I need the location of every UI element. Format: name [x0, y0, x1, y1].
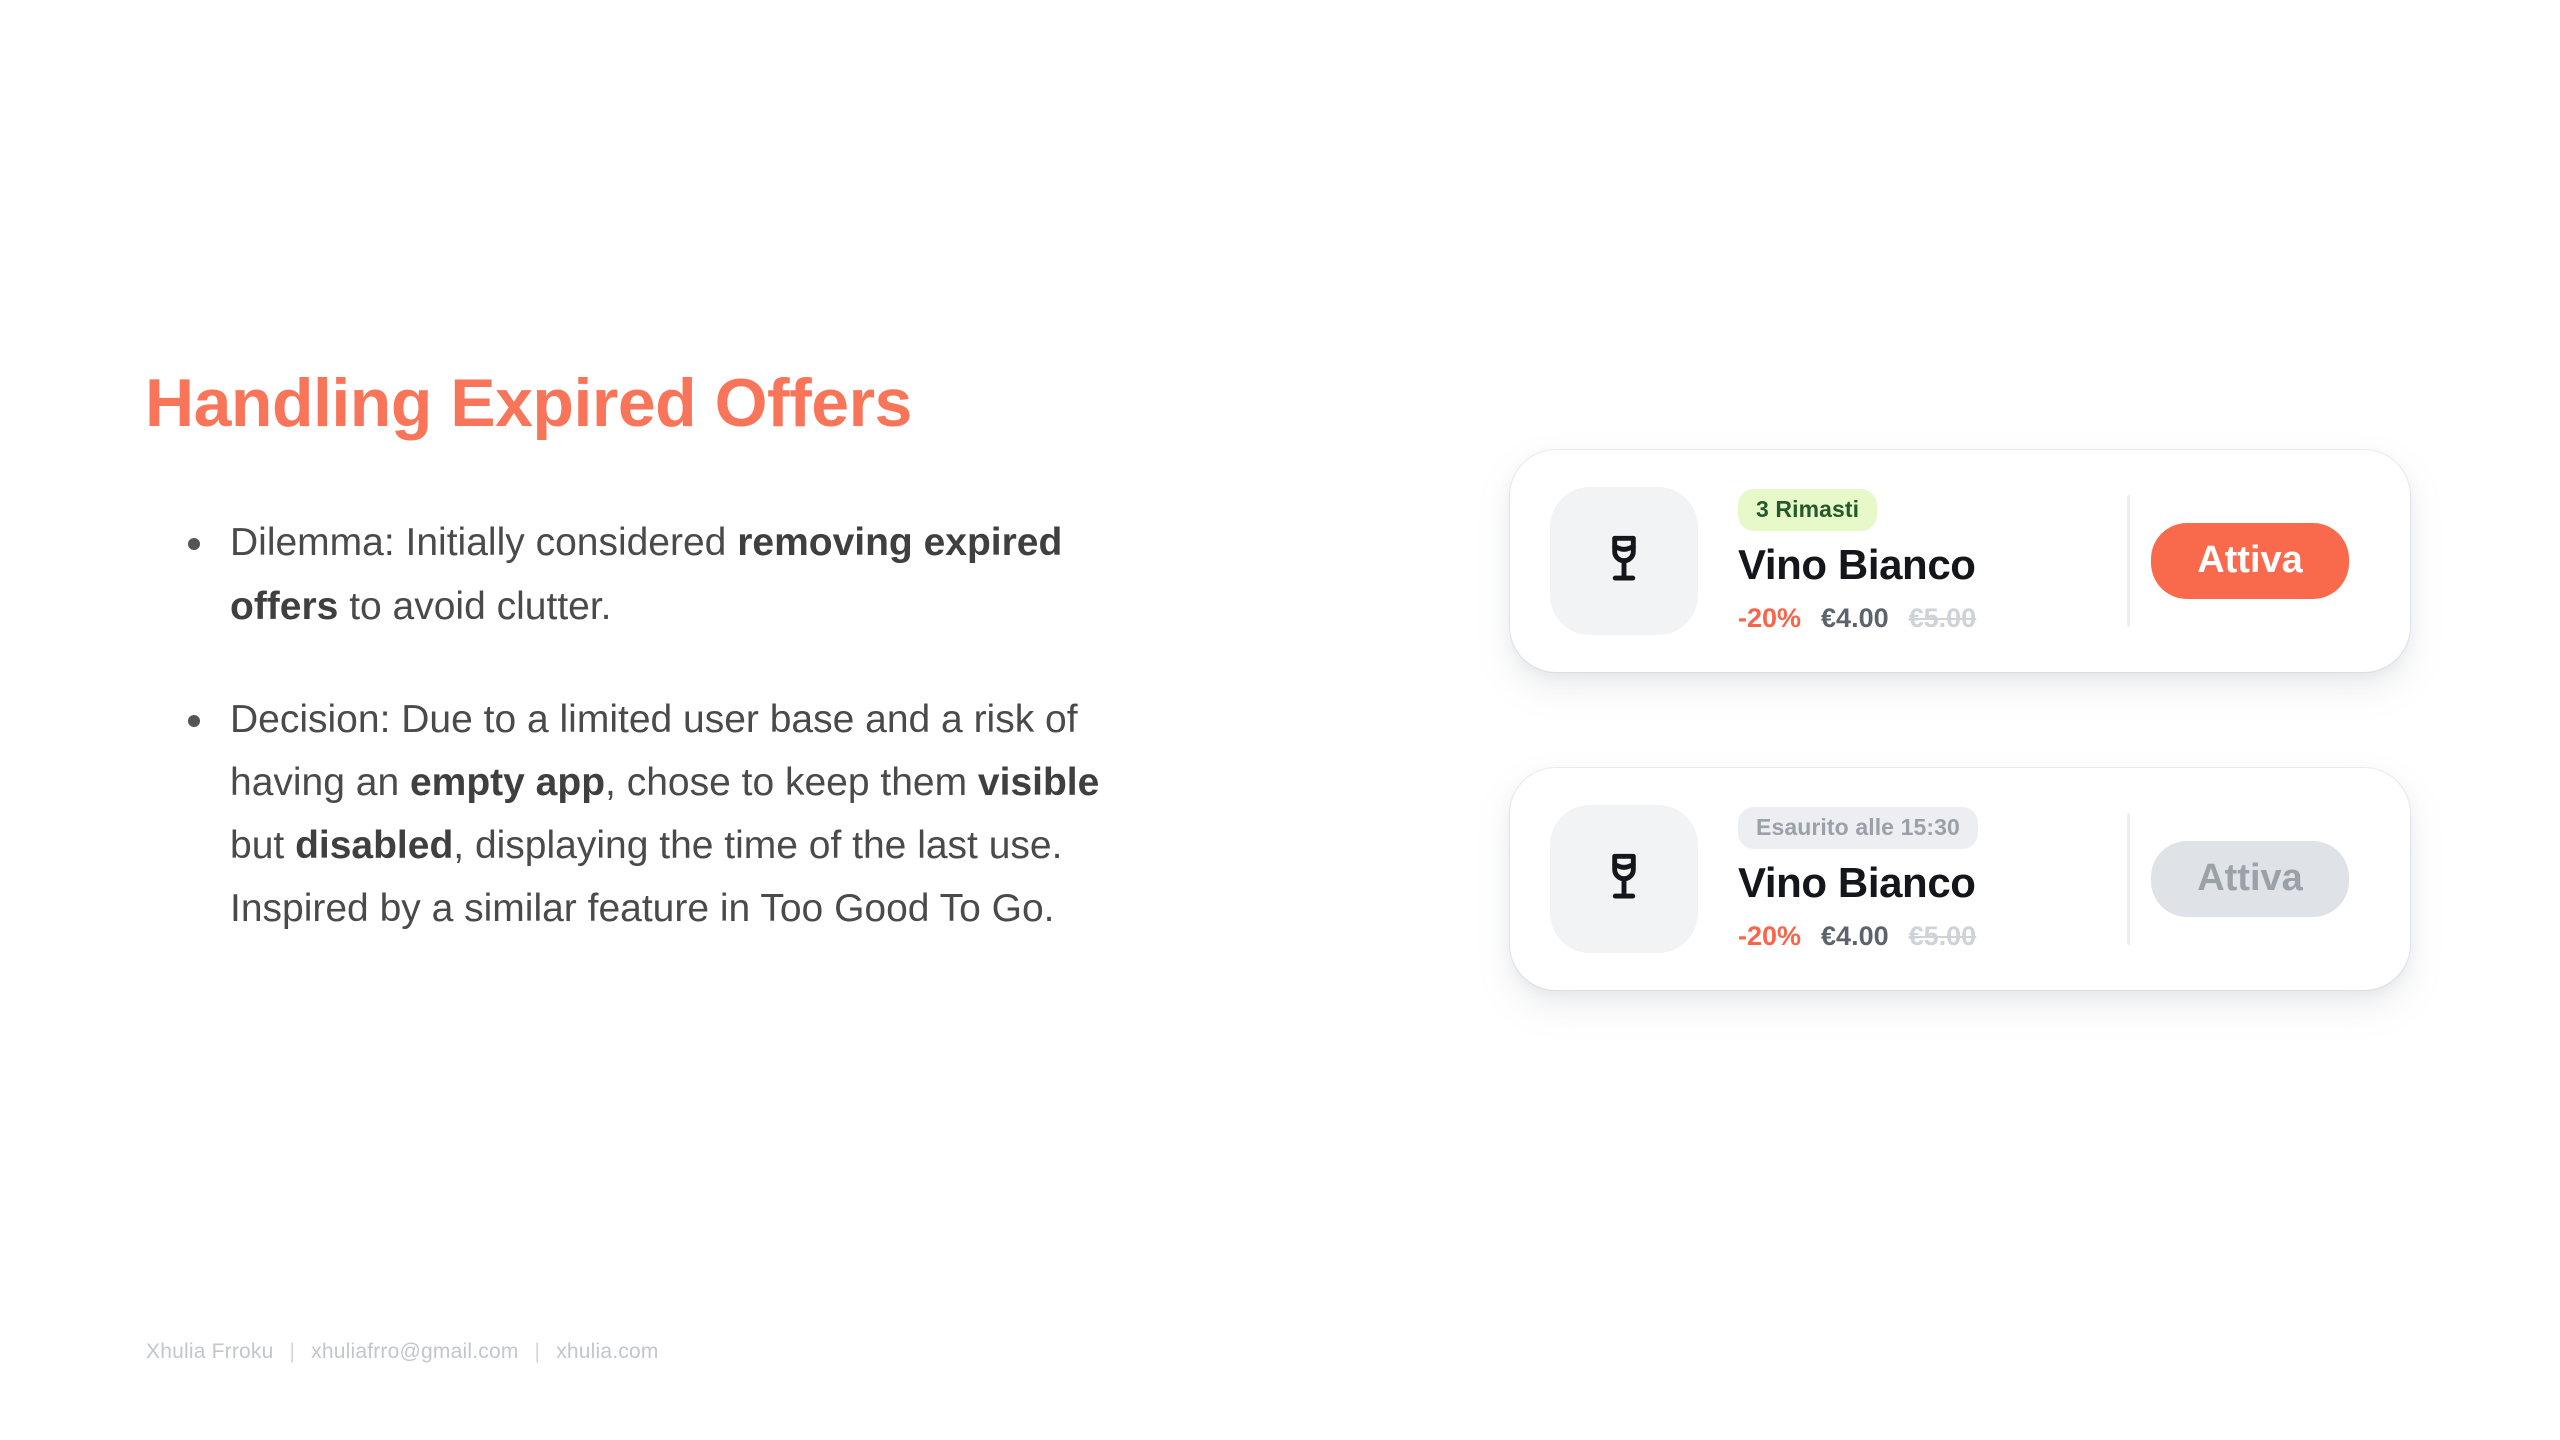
original-price: €5.00 [1909, 921, 1977, 952]
page-title: Handling Expired Offers [145, 368, 1245, 439]
list-item: Decision: Due to a limited user base and… [145, 688, 1155, 941]
footer-email: xhuliafrro@gmail.com [311, 1340, 518, 1364]
action-area: Attiva [2130, 841, 2370, 917]
activate-button[interactable]: Attiva [2151, 523, 2349, 599]
current-price: €4.00 [1821, 603, 1889, 634]
content-column: Handling Expired Offers Dilemma: Initial… [145, 368, 1245, 940]
discount-value: -20% [1738, 921, 1801, 952]
price-row: -20% €4.00 €5.00 [1738, 603, 1976, 634]
offer-cards-mockup: 3 Rimasti Vino Bianco -20% €4.00 €5.00 A… [1510, 450, 2420, 990]
offer-name: Vino Bianco [1738, 859, 1976, 907]
footer-separator: | [519, 1340, 557, 1364]
original-price: €5.00 [1909, 603, 1977, 634]
action-area: Attiva [2130, 523, 2370, 599]
product-image-tile [1550, 487, 1698, 635]
discount-value: -20% [1738, 603, 1801, 634]
offer-details: 3 Rimasti Vino Bianco -20% €4.00 €5.00 [1698, 489, 2119, 634]
footer-website: xhulia.com [556, 1340, 658, 1364]
offer-card[interactable]: Esaurito alle 15:30 Vino Bianco -20% €4.… [1510, 768, 2410, 990]
bullet-list: Dilemma: Initially considered removing e… [145, 511, 1245, 940]
offer-card[interactable]: 3 Rimasti Vino Bianco -20% €4.00 €5.00 A… [1510, 450, 2410, 672]
list-item: Dilemma: Initially considered removing e… [145, 511, 1155, 637]
status-badge: Esaurito alle 15:30 [1738, 807, 1978, 849]
wine-glass-icon [1593, 530, 1655, 592]
offer-details: Esaurito alle 15:30 Vino Bianco -20% €4.… [1698, 807, 2119, 952]
footer-separator: | [273, 1340, 311, 1364]
activate-button: Attiva [2151, 841, 2349, 917]
current-price: €4.00 [1821, 921, 1889, 952]
footer-author: Xhulia Frroku [146, 1340, 273, 1364]
product-image-tile [1550, 805, 1698, 953]
status-badge: 3 Rimasti [1738, 489, 1877, 531]
footer-credits: Xhulia Frroku | xhuliafrro@gmail.com | x… [146, 1340, 659, 1364]
offer-name: Vino Bianco [1738, 541, 1976, 589]
slide-root: Handling Expired Offers Dilemma: Initial… [0, 0, 2560, 1440]
wine-glass-icon [1593, 848, 1655, 910]
price-row: -20% €4.00 €5.00 [1738, 921, 1976, 952]
